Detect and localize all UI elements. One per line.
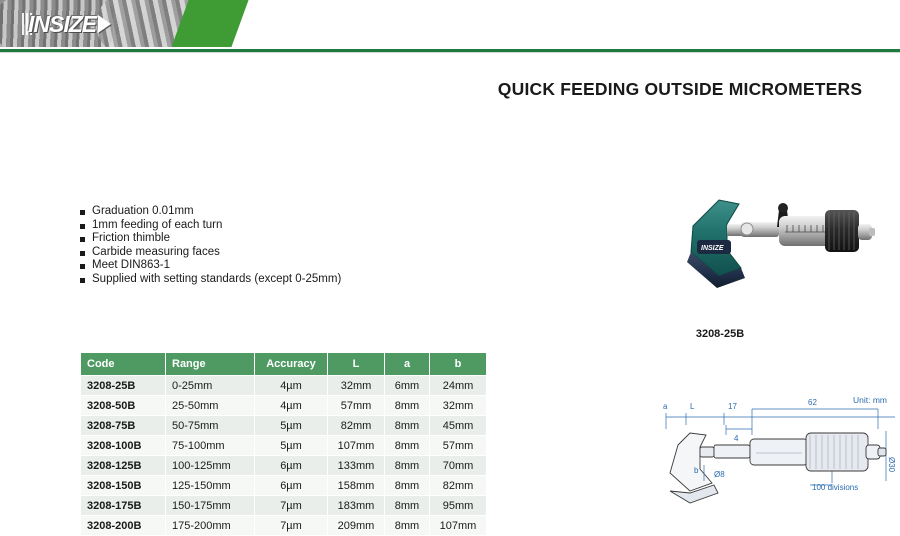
list-item: Meet DIN863-1 xyxy=(80,259,420,271)
cell-b: 32mm xyxy=(430,396,487,416)
cell-L: 133mm xyxy=(328,456,385,476)
square-bullet-icon xyxy=(80,264,85,269)
cell-code: 3208-175B xyxy=(81,496,166,516)
cell-b: 82mm xyxy=(430,476,487,496)
square-bullet-icon xyxy=(80,224,85,229)
table-row: 3208-200B 175-200mm 7µm 209mm 8mm 107mm xyxy=(81,516,487,536)
column-header-range: Range xyxy=(166,353,255,376)
cell-L: 209mm xyxy=(328,516,385,536)
label-L: L xyxy=(690,402,695,411)
cell-accuracy: 6µm xyxy=(255,476,328,496)
svg-text:INSIZE: INSIZE xyxy=(701,245,724,252)
label-b: b xyxy=(694,466,699,475)
cell-L: 183mm xyxy=(328,496,385,516)
cell-L: 82mm xyxy=(328,416,385,436)
square-bullet-icon xyxy=(80,278,85,283)
cell-b: 107mm xyxy=(430,516,487,536)
cell-range: 0-25mm xyxy=(166,376,255,396)
label-dia30: Ø30 xyxy=(887,457,895,473)
cell-code: 3208-150B xyxy=(81,476,166,496)
table-row: 3208-100B 75-100mm 5µm 107mm 8mm 57mm xyxy=(81,436,487,456)
brand-logo: INSIZE xyxy=(28,10,188,38)
cell-a: 8mm xyxy=(385,396,430,416)
cell-L: 32mm xyxy=(328,376,385,396)
cell-accuracy: 7µm xyxy=(255,516,328,536)
label-dia8: Ø8 xyxy=(714,470,725,479)
column-header-L: L xyxy=(328,353,385,376)
list-item: Carbide measuring faces xyxy=(80,246,420,258)
cell-range: 25-50mm xyxy=(166,396,255,416)
list-item: Graduation 0.01mm xyxy=(80,205,420,217)
cell-accuracy: 4µm xyxy=(255,396,328,416)
square-bullet-icon xyxy=(80,237,85,242)
page-title: QUICK FEEDING OUTSIDE MICROMETERS xyxy=(480,79,880,100)
cell-L: 107mm xyxy=(328,436,385,456)
feature-text: Meet DIN863-1 xyxy=(92,259,170,271)
header-divider-secondary xyxy=(0,52,900,53)
cell-a: 6mm xyxy=(385,376,430,396)
cell-code: 3208-50B xyxy=(81,396,166,416)
page-header: INSIZE xyxy=(0,0,900,47)
label-17: 17 xyxy=(728,402,737,411)
cell-b: 95mm xyxy=(430,496,487,516)
table-row: 3208-125B 100-125mm 6µm 133mm 8mm 70mm xyxy=(81,456,487,476)
spec-table: Code Range Accuracy L a b 3208-25B 0-25m… xyxy=(80,352,487,536)
table-row: 3208-175B 150-175mm 7µm 183mm 8mm 95mm xyxy=(81,496,487,516)
table-row: 3208-150B 125-150mm 6µm 158mm 8mm 82mm xyxy=(81,476,487,496)
table-row: 3208-50B 25-50mm 4µm 57mm 8mm 32mm xyxy=(81,396,487,416)
cell-L: 158mm xyxy=(328,476,385,496)
cell-code: 3208-125B xyxy=(81,456,166,476)
cell-range: 75-100mm xyxy=(166,436,255,456)
cell-code: 3208-200B xyxy=(81,516,166,536)
cell-a: 8mm xyxy=(385,496,430,516)
cell-code: 3208-25B xyxy=(81,376,166,396)
cell-a: 8mm xyxy=(385,436,430,456)
photo-caption: 3208-25B xyxy=(620,328,820,340)
cell-accuracy: 7µm xyxy=(255,496,328,516)
cell-range: 50-75mm xyxy=(166,416,255,436)
cell-range: 125-150mm xyxy=(166,476,255,496)
column-header-a: a xyxy=(385,353,430,376)
cell-accuracy: 5µm xyxy=(255,436,328,456)
table-header-row: Code Range Accuracy L a b xyxy=(81,353,487,376)
column-header-b: b xyxy=(430,353,487,376)
square-bullet-icon xyxy=(80,251,85,256)
list-item: Supplied with setting standards (except … xyxy=(80,273,420,285)
feature-text: Friction thimble xyxy=(92,232,170,244)
list-item: 1mm feeding of each turn xyxy=(80,219,420,231)
cell-range: 100-125mm xyxy=(166,456,255,476)
micrometer-photo: INSIZE xyxy=(675,180,875,300)
cell-code: 3208-100B xyxy=(81,436,166,456)
label-a: a xyxy=(663,402,668,411)
feature-text: 1mm feeding of each turn xyxy=(92,219,222,231)
cell-code: 3208-75B xyxy=(81,416,166,436)
dimension-drawing: Unit: mm xyxy=(660,395,895,520)
cell-range: 150-175mm xyxy=(166,496,255,516)
cell-b: 45mm xyxy=(430,416,487,436)
cell-a: 8mm xyxy=(385,456,430,476)
feature-text: Graduation 0.01mm xyxy=(92,205,194,217)
cell-a: 8mm xyxy=(385,416,430,436)
cell-b: 57mm xyxy=(430,436,487,456)
list-item: Friction thimble xyxy=(80,232,420,244)
label-62: 62 xyxy=(808,398,817,407)
cell-accuracy: 4µm xyxy=(255,376,328,396)
feature-text: Carbide measuring faces xyxy=(92,246,220,258)
cell-b: 70mm xyxy=(430,456,487,476)
label-divisions: 100 divisions xyxy=(812,483,858,492)
column-header-code: Code xyxy=(81,353,166,376)
cell-a: 8mm xyxy=(385,516,430,536)
table-row: 3208-25B 0-25mm 4µm 32mm 6mm 24mm xyxy=(81,376,487,396)
arrow-right-icon xyxy=(98,15,111,33)
feature-text: Supplied with setting standards (except … xyxy=(92,273,341,285)
logo-text: INSIZE xyxy=(28,11,96,38)
label-4: 4 xyxy=(734,434,739,443)
table-row: 3208-75B 50-75mm 5µm 82mm 8mm 45mm xyxy=(81,416,487,436)
cell-L: 57mm xyxy=(328,396,385,416)
cell-b: 24mm xyxy=(430,376,487,396)
square-bullet-icon xyxy=(80,210,85,215)
feature-list: Graduation 0.01mm 1mm feeding of each tu… xyxy=(80,205,420,286)
cell-a: 8mm xyxy=(385,476,430,496)
cell-range: 175-200mm xyxy=(166,516,255,536)
column-header-accuracy: Accuracy xyxy=(255,353,328,376)
cell-accuracy: 6µm xyxy=(255,456,328,476)
cell-accuracy: 5µm xyxy=(255,416,328,436)
